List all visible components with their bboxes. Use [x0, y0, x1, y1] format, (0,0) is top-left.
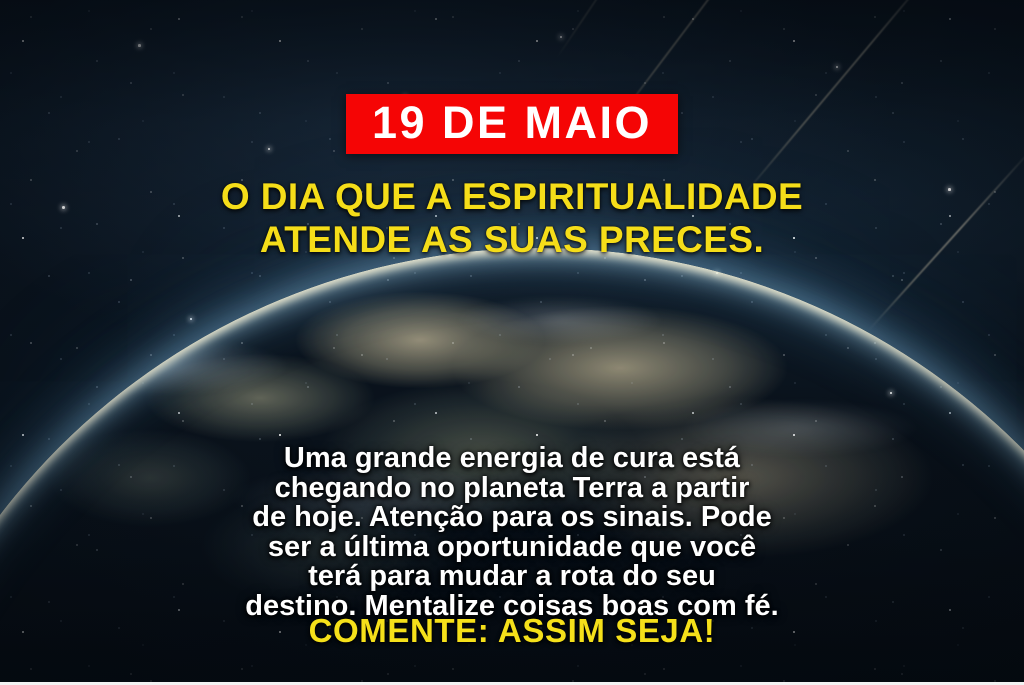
poster-canvas: 19 DE MAIO O DIA QUE A ESPIRITUALIDADE A…	[0, 0, 1024, 685]
date-banner-text: 19 DE MAIO	[372, 100, 652, 145]
body-paragraph: Uma grande energia de cura está chegando…	[62, 444, 962, 621]
headline-text: O DIA QUE A ESPIRITUALIDADE ATENDE AS SU…	[32, 175, 992, 262]
date-banner: 19 DE MAIO	[346, 94, 678, 154]
call-to-action-text: COMENTE: ASSIM SEJA!	[309, 612, 716, 650]
